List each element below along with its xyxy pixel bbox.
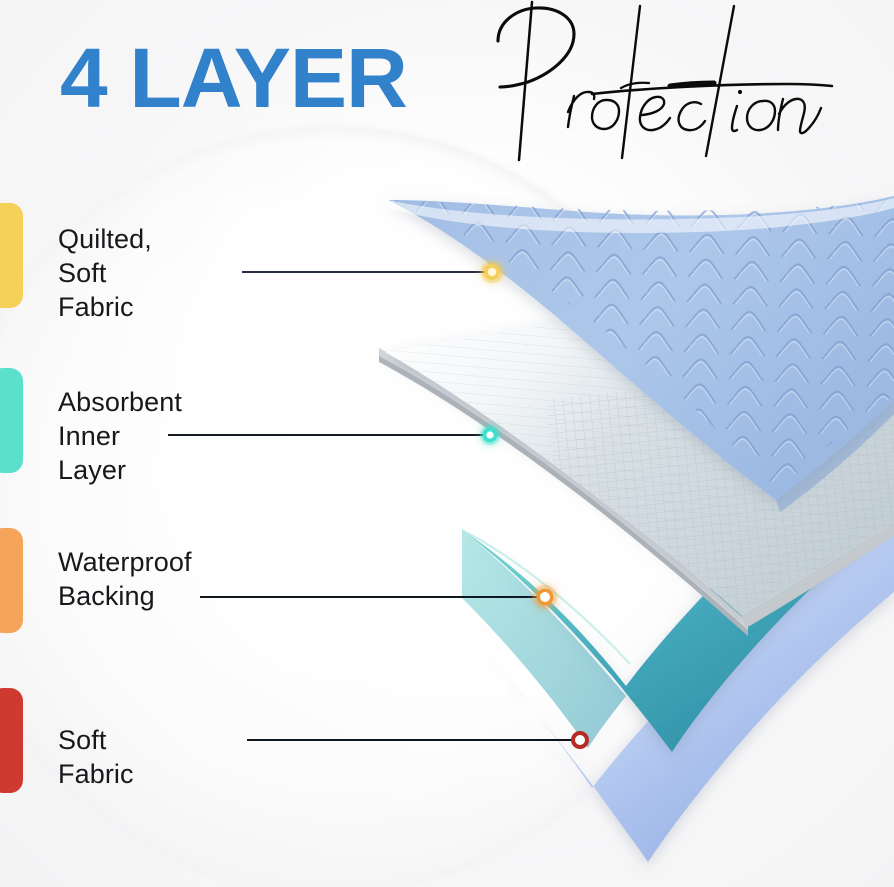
leader-absorbent-inner-layer — [168, 425, 500, 445]
leader-waterproof-backing — [200, 585, 557, 609]
leader-soft-fabric — [247, 731, 589, 749]
connector-dot-soft-fabric — [575, 735, 585, 745]
leader-lines-group — [0, 0, 894, 887]
illustration-page: 4 LAYER Protection — [0, 0, 894, 887]
leader-quilted-soft-fabric — [242, 261, 503, 283]
